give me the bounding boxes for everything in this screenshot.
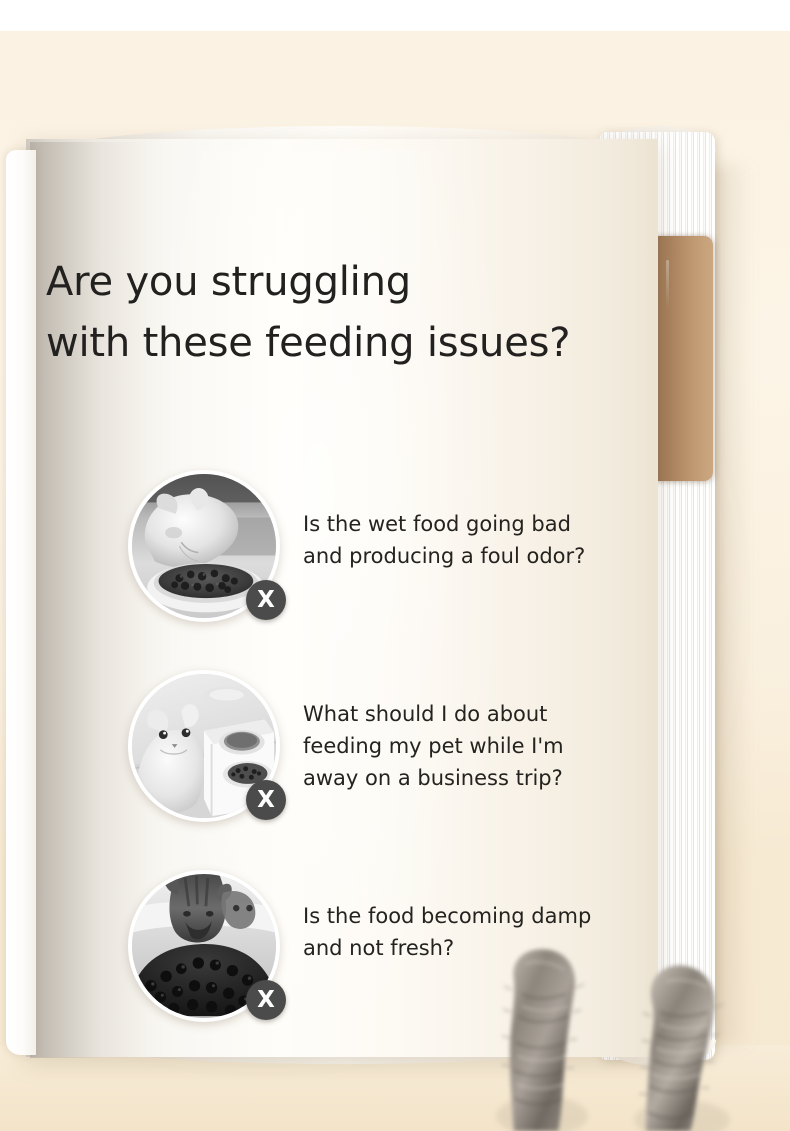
status-badge: X: [246, 580, 286, 620]
list-item-label: What should I do about feeding my pet wh…: [303, 698, 673, 794]
cat-paws: [470, 920, 790, 1131]
issue-photo-wrap: X: [128, 670, 280, 822]
list-item-label: Is the wet food going bad and producing …: [303, 508, 673, 572]
status-badge: X: [246, 780, 286, 820]
page-title: Are you struggling with these feeding is…: [46, 252, 656, 374]
scene-top-white-strip: [0, 0, 790, 31]
status-badge: X: [246, 980, 286, 1020]
issue-photo-wrap: X: [128, 870, 280, 1022]
issue-photo-wrap: X: [128, 470, 280, 622]
list-item: X Is the wet food going bad and producin…: [0, 468, 680, 638]
product-detail-image: Are you struggling with these feeding is…: [0, 0, 790, 1131]
list-item: X What should I do about feeding my pet …: [0, 668, 680, 838]
bookmark-tab: [652, 236, 713, 481]
